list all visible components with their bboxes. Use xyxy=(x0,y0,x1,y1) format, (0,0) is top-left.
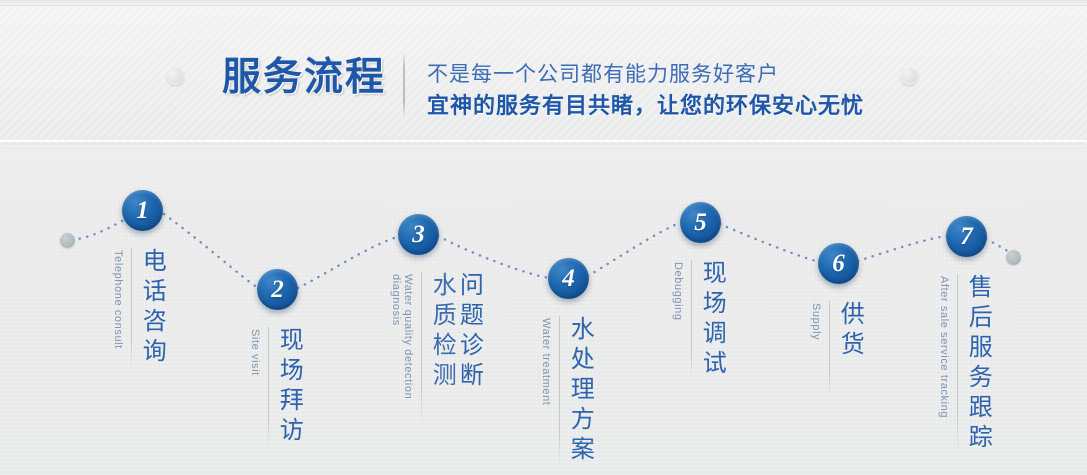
flow-node-6[interactable]: 6 xyxy=(818,243,859,284)
flow-label-1-rule xyxy=(131,248,132,368)
flow-label-5-cn: 现场调试 xyxy=(699,260,724,380)
flow-node-4[interactable]: 4 xyxy=(548,258,589,299)
screw-dot-left-icon xyxy=(167,68,184,85)
flow-label-3-en: Water quality detection diagnosis xyxy=(390,272,414,424)
service-process-banner: 服务流程 不是每一个公司都有能力服务好客户 宜神的服务有目共睹，让您的环保安心无… xyxy=(0,0,1087,475)
flow-label-6-en: Supply xyxy=(810,301,822,340)
flow-label-1-en: Telephone consult xyxy=(112,248,124,349)
flow-label-7-cn: 售后服务跟踪 xyxy=(965,274,990,454)
flow-label-4-en: Water treatment xyxy=(540,316,552,405)
flow-label-3-cn-secondary: 水质检测 xyxy=(429,272,454,392)
flow-label-5-cn-wrap: 现场调试 xyxy=(699,260,724,380)
flow-label-6-cn: 供货 xyxy=(837,301,862,361)
flow-label-4-cn-wrap: 水处理方案 xyxy=(567,316,592,466)
flow-label-3-rule xyxy=(421,272,422,424)
flow-label-7: After sale service tracking 售后服务跟踪 xyxy=(938,274,990,454)
flow-node-2[interactable]: 2 xyxy=(257,269,298,310)
subtitle-line-2: 宜神的服务有目共睹，让您的环保安心无忧 xyxy=(427,88,864,120)
flow-label-5: Debugging 现场调试 xyxy=(672,260,724,380)
flow-label-7-en: After sale service tracking xyxy=(938,274,950,418)
flow-label-7-rule xyxy=(957,274,958,454)
screw-dot-right-icon xyxy=(901,68,918,85)
flow-label-5-en: Debugging xyxy=(672,260,684,321)
flow-label-6-cn-wrap: 供货 xyxy=(837,301,862,361)
flow-label-4-rule xyxy=(559,316,560,466)
flow-label-2-cn: 现场拜访 xyxy=(276,327,301,447)
page-title: 服务流程 xyxy=(222,46,386,102)
flow-label-2-rule xyxy=(268,327,269,447)
title-divider xyxy=(403,52,405,118)
flow-node-1[interactable]: 1 xyxy=(122,190,163,231)
flow-label-4: Water treatment 水处理方案 xyxy=(540,316,592,466)
flow-label-2-cn-wrap: 现场拜访 xyxy=(276,327,301,447)
flow-label-6: Supply 供货 xyxy=(810,301,862,396)
flow-node-5[interactable]: 5 xyxy=(680,202,721,243)
subtitle-line-1: 不是每一个公司都有能力服务好客户 xyxy=(427,58,779,88)
flow-node-7[interactable]: 7 xyxy=(946,216,987,257)
flow-label-3-cn: 问题诊断 xyxy=(456,272,481,392)
flow-label-1-cn-wrap: 电话咨询 xyxy=(139,248,164,368)
flow-label-1-cn: 电话咨询 xyxy=(139,248,164,368)
flow-label-5-rule xyxy=(691,260,692,380)
flow-label-3-cn-wrap: 问题诊断 水质检测 xyxy=(429,272,481,392)
flow-label-2: Site visit 现场拜访 xyxy=(249,327,301,447)
flow-label-6-rule xyxy=(829,301,830,396)
flow-node-3[interactable]: 3 xyxy=(398,214,439,255)
flow-start-dot-icon xyxy=(60,233,75,248)
flow-label-1: Telephone consult 电话咨询 xyxy=(112,248,164,368)
flow-label-3: Water quality detection diagnosis 问题诊断 水… xyxy=(390,272,481,424)
flow-label-4-cn: 水处理方案 xyxy=(567,316,592,466)
top-strip xyxy=(0,0,1087,6)
flow-label-7-cn-wrap: 售后服务跟踪 xyxy=(965,274,990,454)
flow-label-2-en: Site visit xyxy=(249,327,261,376)
flow-end-dot-icon xyxy=(1006,250,1021,265)
